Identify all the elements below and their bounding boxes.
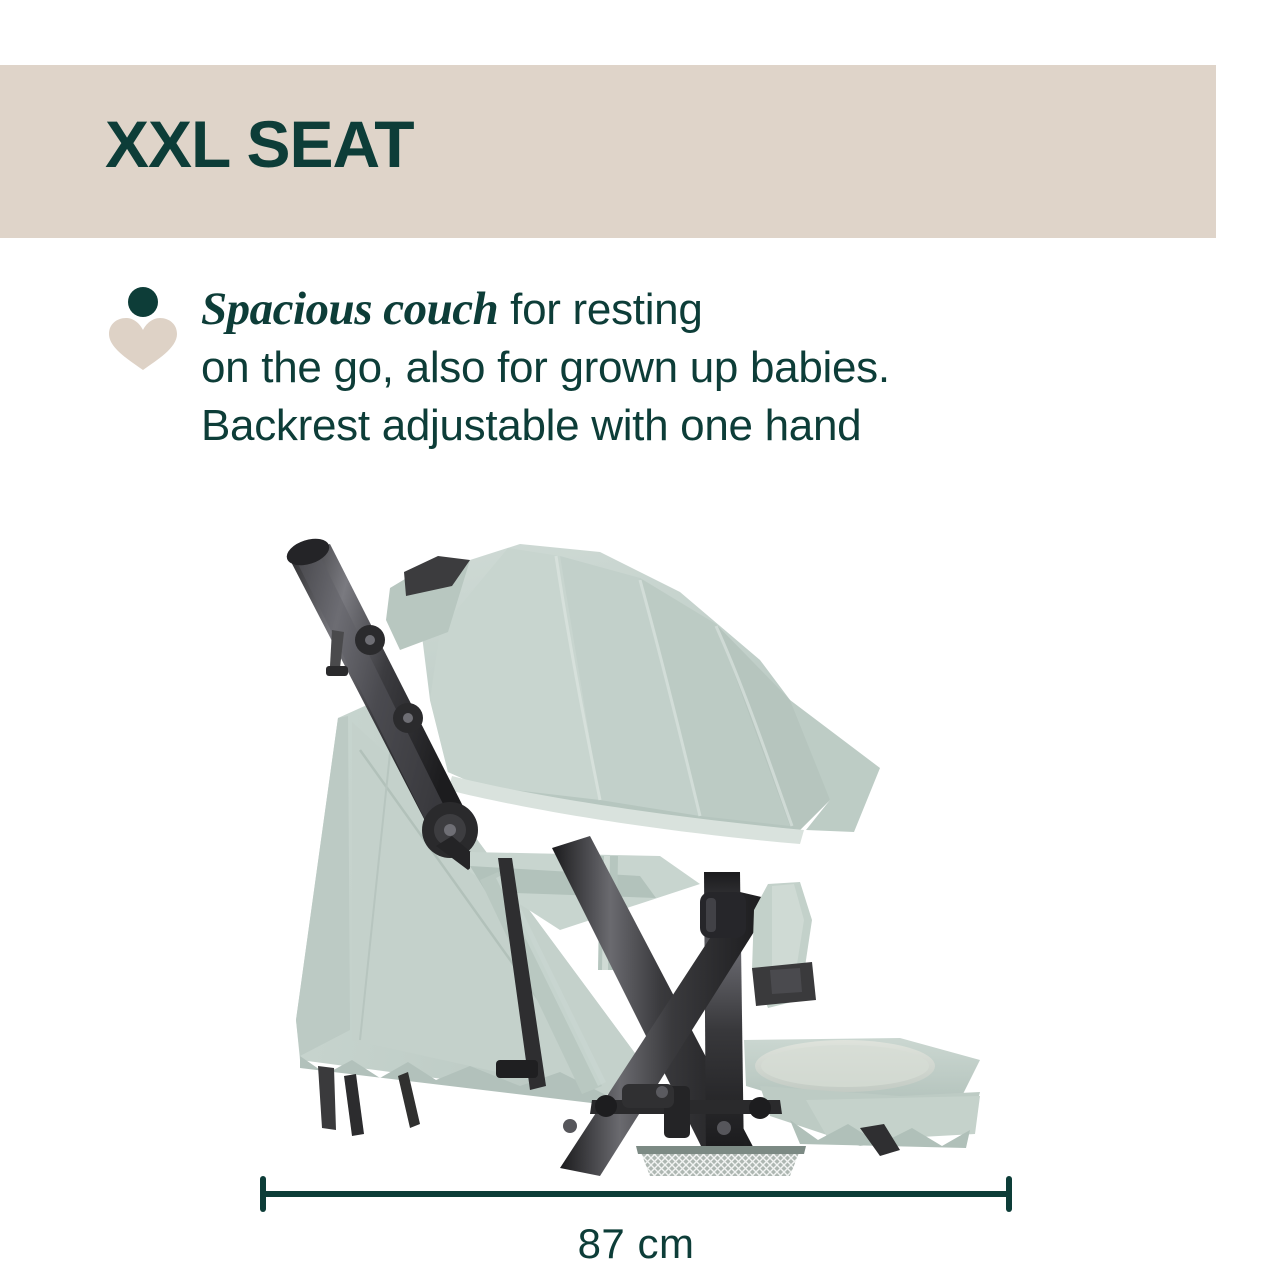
- dimension-label: 87 cm: [260, 1220, 1012, 1268]
- seat-insert-pad-inner: [761, 1045, 929, 1087]
- bolt-2: [717, 1121, 731, 1135]
- baby-head-dot: [128, 287, 158, 317]
- dimension-line: [260, 1176, 1012, 1212]
- feature-emphasis: Spacious couch: [201, 283, 498, 335]
- feature-line2: on the go, also for grown up babies.: [201, 343, 890, 392]
- frame-joint-highlight: [706, 898, 716, 932]
- feature-line1-rest: for resting: [498, 285, 702, 334]
- dimension-cap-right: [1006, 1176, 1012, 1212]
- handlebar-joint-2-pin: [403, 713, 413, 723]
- heart-shape: [109, 318, 177, 370]
- brake-pivot-right: [749, 1097, 771, 1119]
- harness-buckle: [496, 1060, 538, 1078]
- basket-rim: [636, 1146, 806, 1154]
- handlebar-joint-1-pin: [365, 635, 375, 645]
- page-title: XXL SEAT: [105, 108, 414, 180]
- stroller-side-view: chicco: [0, 500, 1280, 1180]
- canopy-hub-pin: [444, 824, 456, 836]
- brake-pivot-left: [595, 1095, 617, 1117]
- product-image: chicco: [0, 500, 1280, 1180]
- lower-strap-left-2: [344, 1074, 364, 1136]
- dimension-bar: [264, 1191, 1008, 1197]
- bolt-1: [563, 1119, 577, 1133]
- feature-description: Spacious couch for resting on the go, al…: [201, 280, 890, 455]
- dimension-indicator: 87 cm: [260, 1176, 1020, 1280]
- feature-block: Spacious couch for resting on the go, al…: [105, 280, 1205, 455]
- handle-strap-buckle: [326, 666, 348, 676]
- lower-strap-left: [318, 1066, 336, 1130]
- headrest-base-buckle: [770, 968, 802, 994]
- backrest-side-fold: [296, 716, 350, 1056]
- handle-strap: [330, 630, 344, 668]
- baby-heart-icon: [105, 286, 181, 370]
- frame-clamp-bolt: [656, 1086, 668, 1098]
- feature-line3: Backrest adjustable with one hand: [201, 401, 861, 450]
